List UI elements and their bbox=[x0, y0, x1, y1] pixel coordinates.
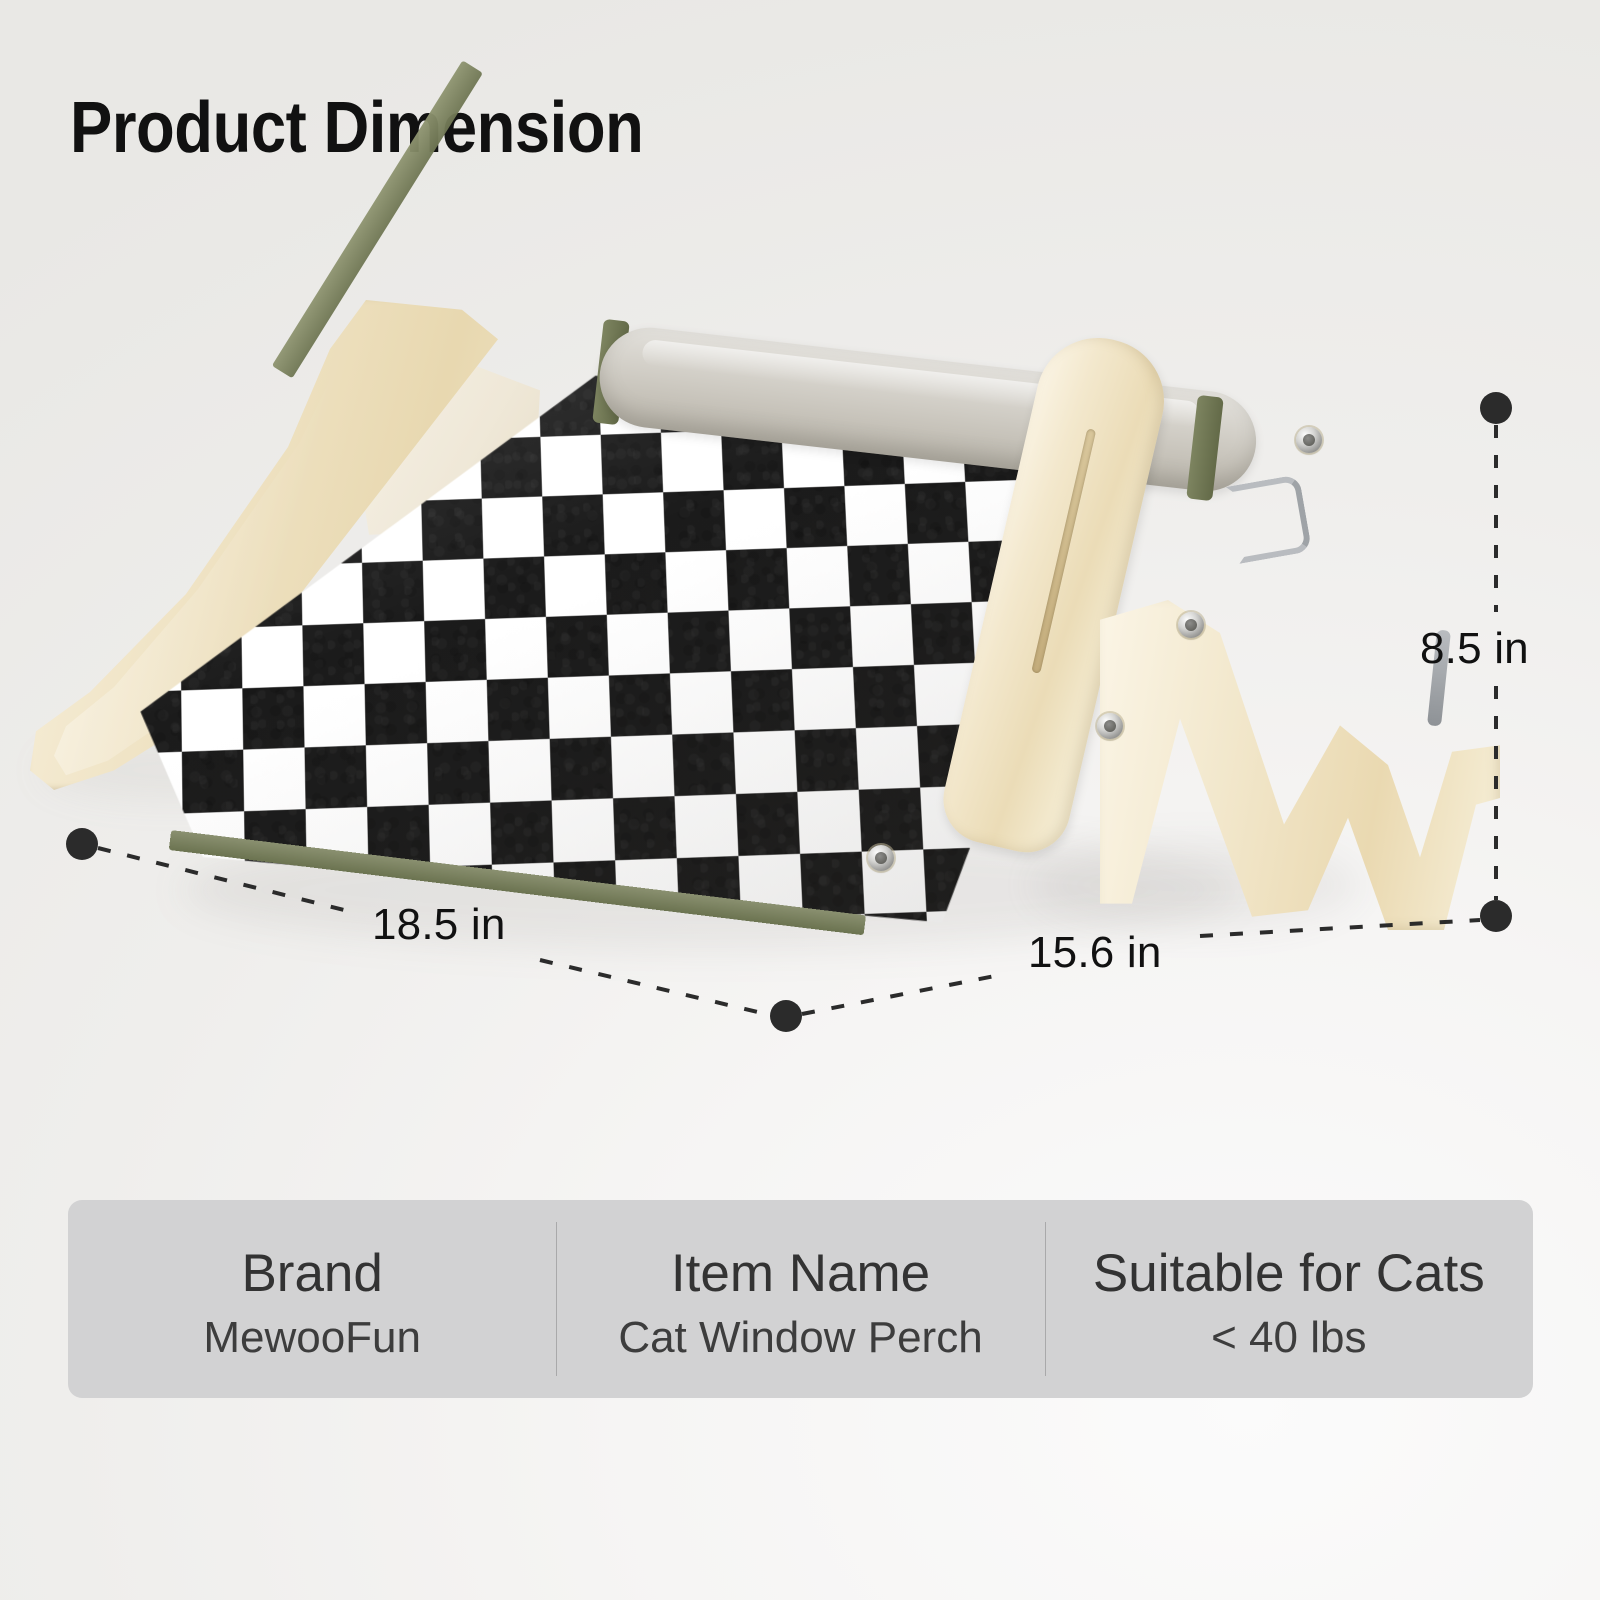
rivet-front-left bbox=[868, 845, 894, 871]
info-value-suitable-for-cats: < 40 lbs bbox=[1211, 1314, 1366, 1362]
info-heading-item-name: Item Name bbox=[671, 1245, 930, 1302]
product-info-panel: Brand MewooFun Item Name Cat Window Perc… bbox=[68, 1200, 1533, 1398]
info-cell-suitable-for-cats: Suitable for Cats < 40 lbs bbox=[1045, 1200, 1533, 1398]
rivet-right-middle bbox=[1178, 612, 1204, 638]
wire-hook bbox=[1226, 474, 1312, 564]
product-photo bbox=[0, 230, 1600, 1050]
info-heading-brand: Brand bbox=[241, 1245, 382, 1302]
height-dimension-label: 8.5 in bbox=[1420, 624, 1529, 674]
info-cell-item-name: Item Name Cat Window Perch bbox=[556, 1200, 1044, 1398]
depth-dimension-label: 15.6 in bbox=[1028, 928, 1162, 978]
info-cell-brand: Brand MewooFun bbox=[68, 1200, 556, 1398]
width-dimension-label: 18.5 in bbox=[372, 900, 506, 950]
page-title: Product Dimension bbox=[70, 92, 643, 164]
info-value-brand: MewooFun bbox=[203, 1314, 421, 1362]
adjustment-slot bbox=[1031, 428, 1096, 674]
info-heading-suitable-for-cats: Suitable for Cats bbox=[1093, 1245, 1485, 1302]
info-value-item-name: Cat Window Perch bbox=[618, 1314, 982, 1362]
rivet-right-lower bbox=[1097, 713, 1123, 739]
product-dimension-infographic: Product Dimension bbox=[0, 0, 1600, 1600]
rivet-right-top bbox=[1296, 427, 1322, 453]
